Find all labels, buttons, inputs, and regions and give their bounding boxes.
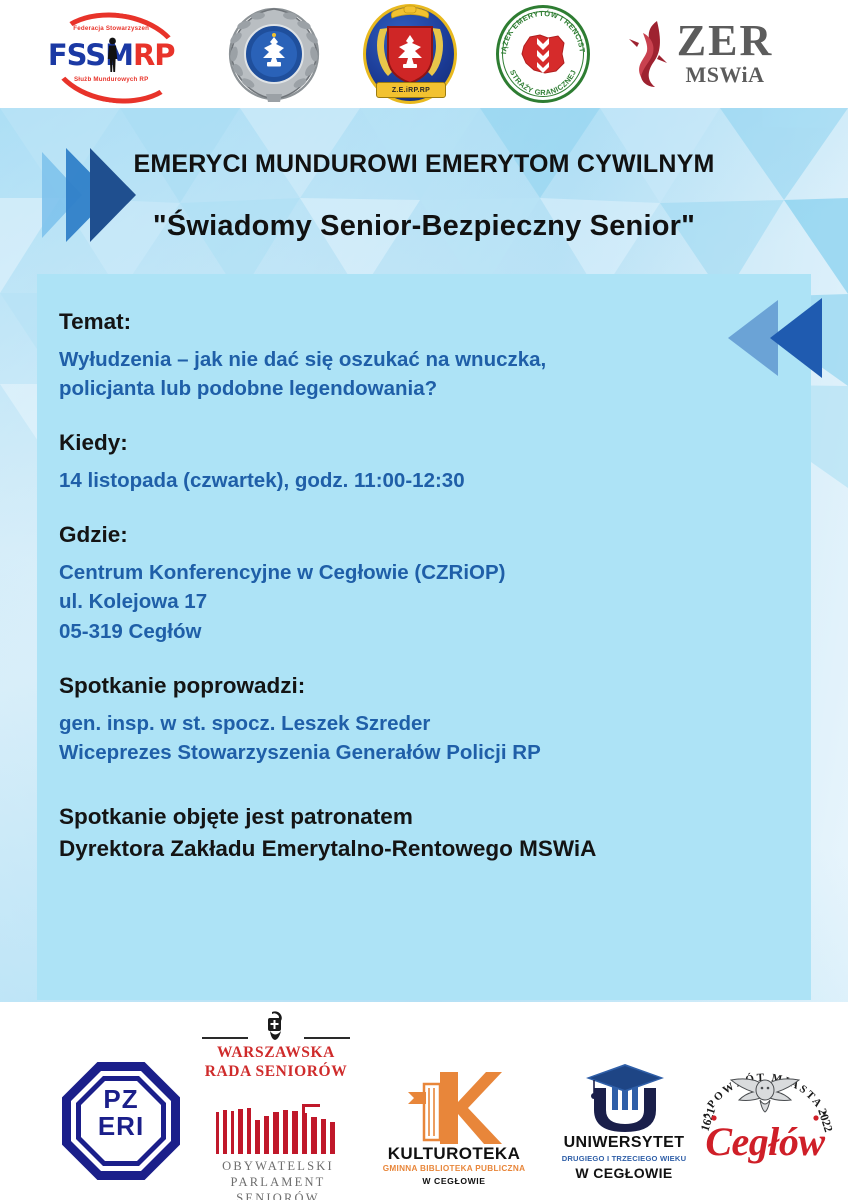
warszawska-rada-seniorow-logo: WARSZAWSKA RADA SENIORÓW [196,1008,356,1096]
zer-mswia-logo: ZER MSWiA [627,12,813,96]
ceglow-script-wordmark: Cegłów [690,1118,840,1165]
pzeri-line1: PZ [62,1086,180,1113]
section-patronat: Spotkanie objęte jest patronatem Dyrekto… [59,801,811,865]
pzeri-line2: ERI [62,1113,180,1140]
ops-wordmark: OBYWATELSKI PARLAMENT SENIORÓW [200,1158,356,1200]
page-headline: EMERYCI MUNDUROWI EMERYTOM CYWILNYM [0,150,848,179]
obywatelski-parlament-seniorow-logo: OBYWATELSKI PARLAMENT SENIORÓW [200,1100,356,1200]
wrs-line1: WARSZAWSKA [196,1044,356,1061]
kulturoteka-k-book-icon [406,1070,502,1144]
prowadzacy-line-2: Wiceprezes Stowarzyszenia Generałów Poli… [59,738,811,767]
logo-slot-generals [222,4,326,104]
spacer [59,456,811,466]
zeirp-rp-logo: Z.E.iRP.RP [360,3,460,105]
spacer [59,646,811,672]
uniwersytet-line2: DRUGIEGO I TRZECIEGO WIEKU [548,1154,700,1163]
logo-slot-straz-graniczna: ZWIĄZEK EMERYTÓW I RENCISTÓW STRAŻY GRAN… [494,4,592,104]
kulturoteka-line1: KULTUROTEKA [378,1144,530,1164]
kulturoteka-line3: W CEGŁOWIE [378,1176,530,1186]
ops-building-bars-icon [214,1102,342,1154]
play-arrows-right-decoration [712,288,832,388]
fssm-silhouette-icon [107,37,118,73]
patronat-line-1: Spotkanie objęte jest patronatem [59,801,811,833]
generals-seal-icon [222,4,326,104]
wrs-divider-rule [196,1032,356,1042]
logo-slot-zer: ZER MSWiA [627,12,813,96]
logo-slot-zeirp: Z.E.iRP.RP [360,3,460,105]
uniwersytet-line3: W CEGŁOWIE [548,1165,700,1181]
pzeri-logo: PZ ERI [52,1060,192,1184]
zer-line1: ZER [677,20,773,62]
kulturoteka-logo: KULTUROTEKA GMINNA BIBLIOTEKA PUBLICZNA … [378,1070,530,1194]
gdzie-line-1: Centrum Konferencyjne w Cegłowie (CZRiOP… [59,558,811,587]
patronat-line-2: Dyrektora Zakładu Emerytalno-Rentowego M… [59,833,811,865]
footer-logo-strip: PZ ERI WARSZAWSKA RADA SENIORÓW [0,1002,848,1200]
content-card: Temat: Wyłudzenia – jak nie dać się oszu… [37,274,811,1000]
section-prowadzacy: Spotkanie poprowadzi: gen. insp. w st. s… [59,672,811,767]
uniwersytet-line1: UNIWERSYTET [548,1134,700,1152]
label-spotkanie-poprowadzi: Spotkanie poprowadzi: [59,672,811,699]
gdzie-line-2: ul. Kolejowa 17 [59,587,811,616]
page-subhead: "Świadomy Senior-Bezpieczny Senior" [0,210,848,243]
logo-slot-fssm: Federacja Stowarzyszeń FSSMRP Służb Mund… [35,11,187,97]
zwiazek-emerytow-strazy-granicznej-logo: ZWIĄZEK EMERYTÓW I RENCISTÓW STRAŻY GRAN… [494,4,592,104]
fssm-wordmark-left: FSSM [48,38,133,72]
poland-map-icon [518,30,568,76]
ops-line1: OBYWATELSKI [200,1158,356,1174]
kiedy-line-1: 14 listopada (czwartek), godz. 11:00-12:… [59,466,811,495]
spacer [59,403,811,429]
stowarzyszenie-generalow-policji-logo [222,4,326,104]
fssm-wordmark-right: RP [133,38,175,72]
spacer [59,495,811,521]
label-temat: Temat: [59,308,811,335]
temat-line-2: policjanta lub podobne legendowania? [59,374,811,403]
zer-flame-icon [627,19,673,89]
wrs-line2: RADA SENIORÓW [196,1063,356,1080]
graduation-cap-icon [586,1064,664,1132]
ceglow-logo: • POWRÓT MIASTA • 1621 2022 Cegłów [690,1060,840,1192]
spacer [59,548,811,558]
zer-line2: MSWiA [677,62,773,88]
fssm-top-text: Federacja Stowarzyszeń [35,25,187,32]
uniwersytet-logo: UNIWERSYTET DRUGIEGO I TRZECIEGO WIEKU W… [548,1064,700,1192]
spacer [59,335,811,345]
gdzie-line-3: 05-319 Cegłów [59,617,811,646]
label-gdzie: Gdzie: [59,521,811,548]
temat-line-1: Wyłudzenia – jak nie dać się oszukać na … [59,345,811,374]
fssm-bottom-text: Służb Mundurowych RP [35,76,187,83]
ops-line2: PARLAMENT [200,1174,356,1190]
section-temat: Temat: Wyłudzenia – jak nie dać się oszu… [59,308,811,403]
fssm-rp-logo: Federacja Stowarzyszeń FSSMRP Służb Mund… [35,11,187,97]
section-gdzie: Gdzie: Centrum Konferencyjne w Cegłowie … [59,521,811,645]
label-kiedy: Kiedy: [59,429,811,456]
kulturoteka-line2: GMINNA BIBLIOTEKA PUBLICZNA [378,1164,530,1173]
zeirp-banner-text: Z.E.iRP.RP [376,82,446,98]
zer-wordmark: ZER MSWiA [677,20,773,89]
pzeri-wordmark: PZ ERI [62,1086,180,1141]
section-kiedy: Kiedy: 14 listopada (czwartek), godz. 11… [59,429,811,495]
header-logo-strip: Federacja Stowarzyszeń FSSMRP Służb Mund… [0,0,848,108]
spacer [59,767,811,801]
ops-line3: SENIORÓW [200,1190,356,1200]
prowadzacy-line-1: gen. insp. w st. spocz. Leszek Szreder [59,709,811,738]
spacer [59,699,811,709]
poster: Federacja Stowarzyszeń FSSMRP Służb Mund… [0,0,848,1200]
